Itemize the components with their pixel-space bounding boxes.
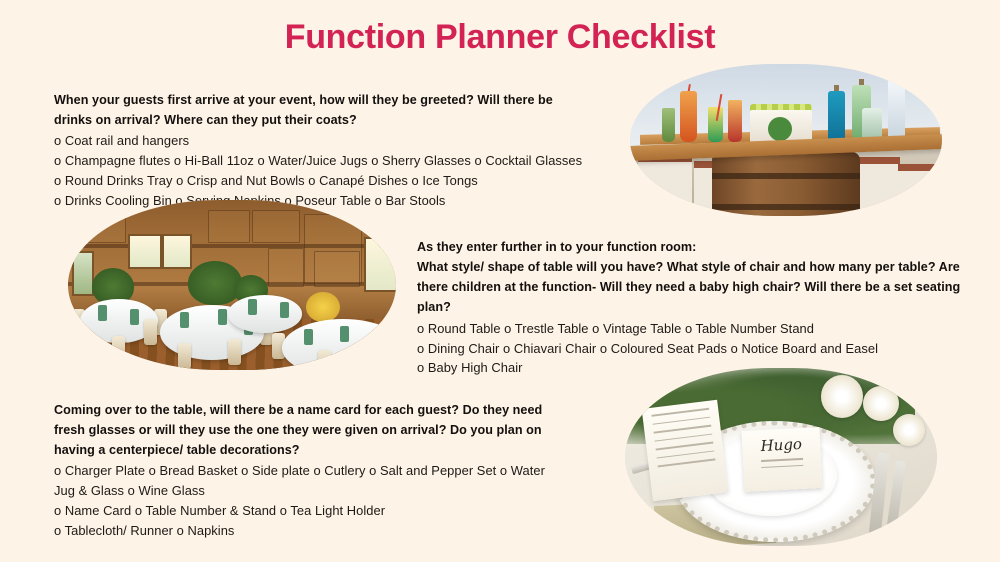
crate-logo-badge xyxy=(768,117,792,141)
section-room-question-line: What style/ shape of table will you have… xyxy=(417,258,965,277)
photo-table-setting: Hugo xyxy=(625,368,937,546)
barrel-hoop xyxy=(712,173,860,179)
photo-cocktails-on-barrel xyxy=(630,64,942,216)
wall-panel xyxy=(252,210,300,243)
section-arrival-question-line: When your guests first arrive at your ev… xyxy=(54,91,594,110)
section-room-question-line: there children at the function- Will the… xyxy=(417,278,965,297)
section-table-item-line: o Tablecloth/ Runner o Napkins xyxy=(54,521,574,541)
flower-arrangement xyxy=(306,292,340,323)
section-arrival: When your guests first arrive at your ev… xyxy=(54,91,594,211)
cocktail-glass xyxy=(708,107,723,142)
gin-bottle-blue xyxy=(828,91,845,143)
section-arrival-item-line: o Coat rail and hangers xyxy=(54,131,594,151)
section-arrival-item-line: o Round Drinks Tray o Crisp and Nut Bowl… xyxy=(54,171,594,191)
name-card-detail-line xyxy=(761,464,803,468)
section-room-item-line: o Dining Chair o Chiavari Chair o Colour… xyxy=(417,339,965,359)
section-table-item-line: o Charger Plate o Bread Basket o Side pl… xyxy=(54,461,574,481)
name-card-name: Hugo xyxy=(741,427,820,456)
green-napkin xyxy=(374,333,383,349)
green-napkin xyxy=(180,312,189,328)
photo-function-room xyxy=(68,200,396,370)
chiavari-chair xyxy=(144,319,157,345)
green-napkin xyxy=(340,326,349,342)
menu-card xyxy=(642,399,729,500)
building-shape xyxy=(898,164,942,216)
chiavari-chair xyxy=(112,336,125,362)
round-banquet-table xyxy=(228,295,302,332)
section-room-question-line: As they enter further in to your functio… xyxy=(417,238,965,257)
vodka-bottle xyxy=(888,79,905,143)
wall-panel xyxy=(208,210,250,243)
wall-panel xyxy=(80,214,126,243)
white-rose xyxy=(863,386,899,422)
white-rose xyxy=(821,375,863,418)
section-table-item-line: Jug & Glass o Wine Glass xyxy=(54,481,574,501)
section-room-item-line: o Round Table o Trestle Table o Vintage … xyxy=(417,319,965,339)
building-shape xyxy=(638,155,692,216)
barrel-hoop xyxy=(712,204,860,210)
section-arrival-question-line: drinks on arrival? Where can they put th… xyxy=(54,111,594,130)
section-table-question-line: having a centerpiece/ table decorations? xyxy=(54,441,574,460)
section-table-item-line: o Name Card o Table Number & Stand o Tea… xyxy=(54,501,574,521)
section-table: Coming over to the table, will there be … xyxy=(54,401,574,541)
highball-glass xyxy=(728,100,742,141)
section-table-question-line: Coming over to the table, will there be … xyxy=(54,401,574,420)
mojito-glass xyxy=(662,108,675,141)
name-card: Hugo xyxy=(741,427,822,492)
page-title: Function Planner Checklist xyxy=(0,18,1000,57)
window xyxy=(162,234,192,269)
green-napkin xyxy=(130,309,139,325)
window xyxy=(128,234,162,269)
section-function-room: As they enter further in to your functio… xyxy=(417,238,965,378)
chiavari-chair xyxy=(318,350,331,370)
section-table-question-line: fresh glasses or will they use the one t… xyxy=(54,421,574,440)
punch-carafe xyxy=(680,91,697,141)
window xyxy=(72,251,94,296)
poster-canvas: Function Planner Checklist xyxy=(0,0,1000,562)
green-napkin xyxy=(98,305,107,321)
potted-fern xyxy=(188,261,242,305)
section-room-question-line: plan? xyxy=(417,298,965,317)
green-napkin xyxy=(304,329,313,345)
ceiling-beam xyxy=(68,244,396,248)
green-napkin xyxy=(218,309,227,325)
section-arrival-item-line: o Champagne flutes o Hi-Ball 11oz o Wate… xyxy=(54,151,594,171)
green-napkin xyxy=(248,299,257,315)
green-napkin xyxy=(280,302,289,318)
name-card-detail-line xyxy=(761,457,803,461)
chiavari-chair xyxy=(178,343,191,369)
window xyxy=(364,237,396,292)
chiavari-chair xyxy=(228,339,241,365)
